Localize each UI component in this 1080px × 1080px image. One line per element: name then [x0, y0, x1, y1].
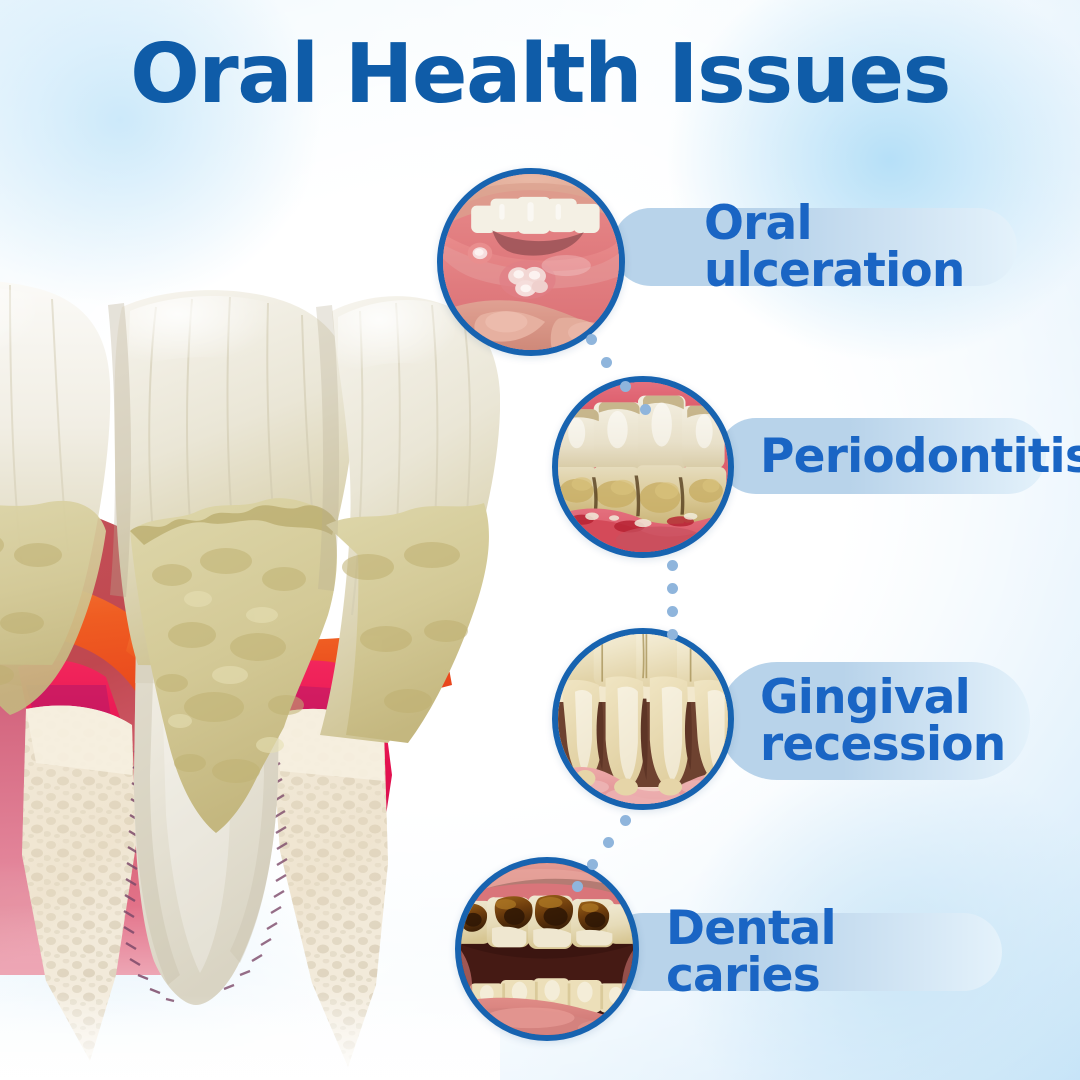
connector-dot — [586, 334, 597, 345]
connector-dot — [603, 837, 614, 848]
connector-dot — [601, 357, 612, 368]
connector-dot — [640, 404, 651, 415]
infographic-canvas: Oral Health Issues — [0, 0, 1080, 1080]
page-title: Oral Health Issues — [0, 32, 1080, 118]
connector-dot — [667, 560, 678, 571]
thumbnail-gingival-recession[interactable] — [552, 628, 734, 810]
label-text-oral-ulceration: Oral ulceration — [704, 200, 1017, 294]
connector-dot — [667, 583, 678, 594]
label-text-dental-caries: Dental caries — [666, 905, 1002, 999]
connector-dot — [667, 606, 678, 617]
label-text-gingival-recession: Gingival recession — [760, 674, 1005, 768]
connector-dot — [572, 881, 583, 892]
label-pill-periodontitis[interactable]: Periodontitis — [718, 418, 1046, 494]
label-text-periodontitis: Periodontitis — [760, 433, 1080, 480]
connector-dot — [620, 815, 631, 826]
connector-dot — [667, 629, 678, 640]
connector-dot — [620, 381, 631, 392]
label-pill-gingival-recession[interactable]: Gingival recession — [718, 662, 1030, 780]
main-illustration — [0, 215, 500, 1080]
thumbnail-dental-caries[interactable] — [455, 857, 639, 1041]
connector-dot — [587, 859, 598, 870]
label-pill-dental-caries[interactable]: Dental caries — [604, 913, 1002, 991]
label-pill-oral-ulceration[interactable]: Oral ulceration — [612, 208, 1017, 286]
thumbnail-oral-ulceration[interactable] — [437, 168, 625, 356]
